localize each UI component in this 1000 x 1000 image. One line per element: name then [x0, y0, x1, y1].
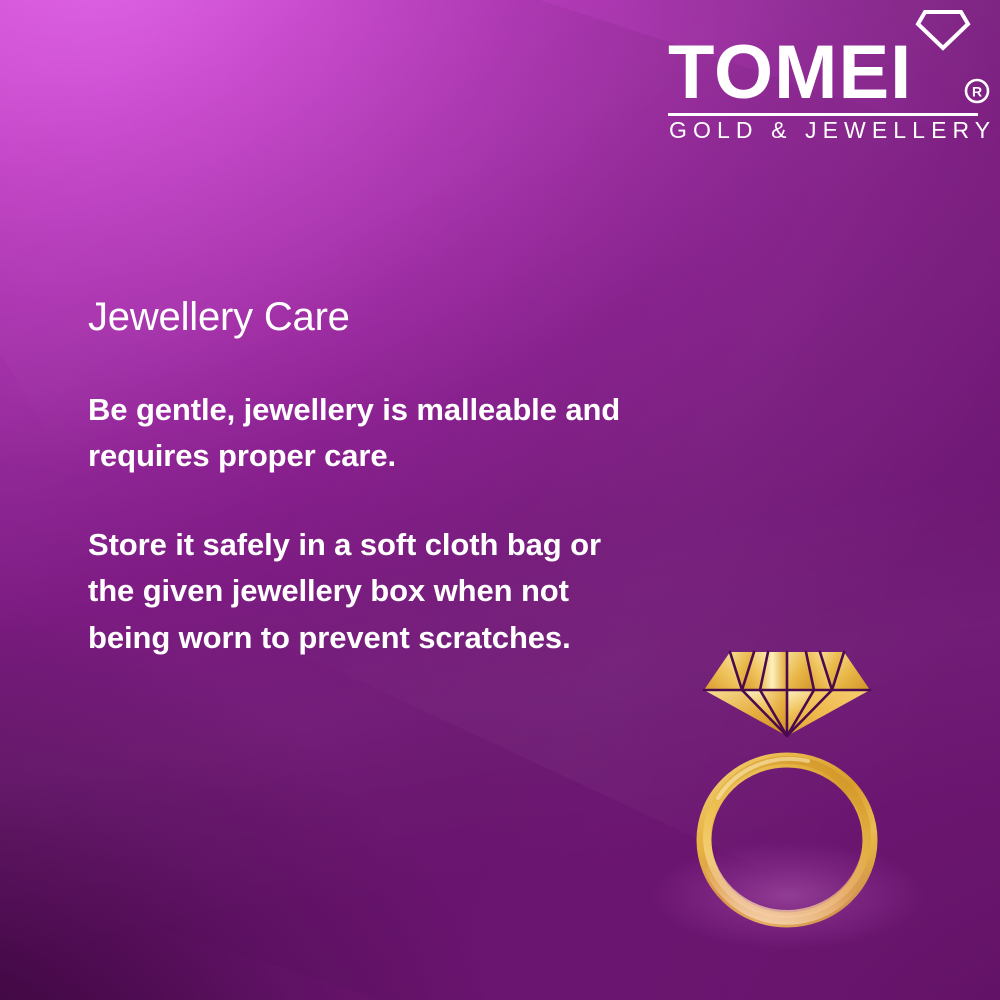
- svg-text:R: R: [972, 84, 982, 100]
- copy-block: Jewellery Care Be gentle, jewellery is m…: [88, 295, 648, 661]
- gold-ring-band-icon: [704, 759, 870, 920]
- diamond-outline-icon: [914, 8, 972, 52]
- logo-wordmark: TOMEI: [668, 35, 912, 111]
- logo-tagline: GOLD & JEWELLERY: [669, 119, 996, 142]
- gold-diamond-icon: [704, 652, 870, 736]
- logo-divider: [668, 113, 978, 116]
- registered-trademark-icon: R: [964, 78, 990, 104]
- page-title: Jewellery Care: [88, 295, 648, 340]
- jewellery-care-poster: TOMEI R GOLD & JEWELLERY Jewellery Care …: [0, 0, 1000, 1000]
- diamond-ring-graphic: [688, 638, 888, 928]
- care-paragraph-2: Store it safely in a soft cloth bag or t…: [88, 522, 648, 662]
- diamond-ring-illustration: [688, 638, 888, 928]
- care-paragraph-1: Be gentle, jewellery is malleable and re…: [88, 387, 648, 480]
